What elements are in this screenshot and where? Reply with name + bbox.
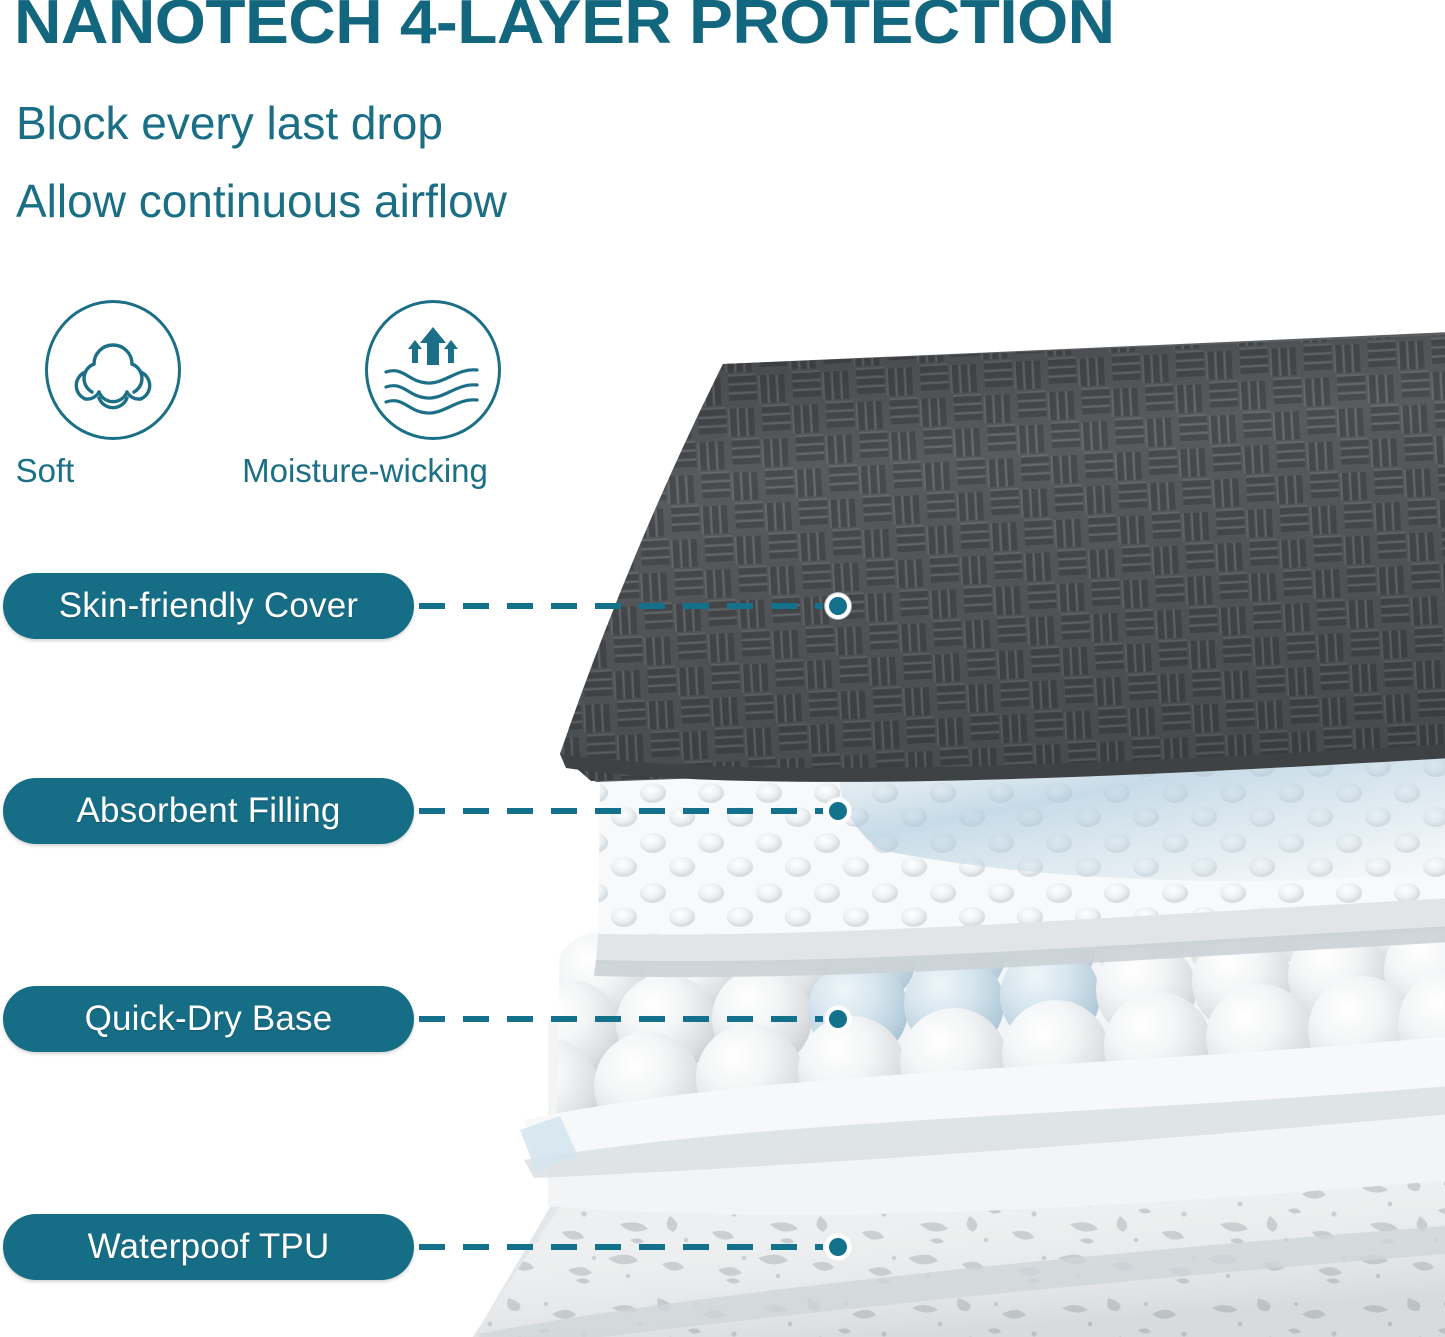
layer-label-pill[interactable]: Waterpoof TPU: [3, 1214, 414, 1280]
layer-label-text: Waterpoof TPU: [88, 1227, 330, 1267]
leader-endpoint-dot: [825, 593, 851, 619]
layer-label-text: Skin-friendly Cover: [59, 586, 358, 626]
layer-label-pill[interactable]: Skin-friendly Cover: [3, 573, 414, 639]
layer-label-pill[interactable]: Quick-Dry Base: [3, 986, 414, 1052]
infographic-canvas: NANOTECH 4-LAYER PROTECTION Block every …: [0, 0, 1445, 1337]
leader-line: [419, 1244, 823, 1250]
leader-endpoint-dot: [825, 1234, 851, 1260]
leader-line: [419, 603, 823, 609]
layer-label-text: Absorbent Filling: [76, 791, 340, 831]
layer-label-text: Quick-Dry Base: [85, 999, 333, 1039]
layer-1-skin-friendly-cover: [509, 330, 1445, 824]
leader-endpoint-dot: [825, 798, 851, 824]
subtitle-line-2: Allow continuous airflow: [16, 178, 507, 224]
layer-label-pill[interactable]: Absorbent Filling: [3, 778, 414, 844]
leader-line: [419, 1016, 823, 1022]
leader-line: [419, 808, 823, 814]
leader-endpoint-dot: [825, 1006, 851, 1032]
subtitle-line-1: Block every last drop: [16, 100, 443, 146]
page-title: NANOTECH 4-LAYER PROTECTION: [14, 0, 1115, 54]
